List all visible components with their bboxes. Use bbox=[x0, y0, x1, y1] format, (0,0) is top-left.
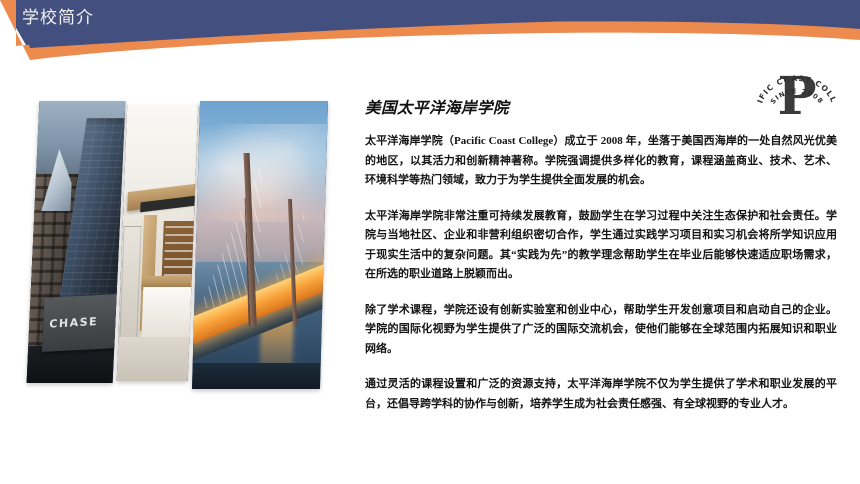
content-heading: 美国太平洋海岸学院 bbox=[365, 96, 837, 118]
page-title: 学校简介 bbox=[22, 6, 94, 30]
header-banner: 学校简介 bbox=[0, 0, 860, 64]
photo-collage: CHASE bbox=[33, 101, 323, 393]
presentation-slide: 学校简介 CHASE bbox=[0, 0, 860, 484]
content-paragraph-4: 通过灵活的课程设置和广泛的资源支持，太平洋海岸学院不仅为学生提供了学术和职业发展… bbox=[365, 375, 837, 414]
chase-sign-label: CHASE bbox=[43, 315, 98, 331]
content-paragraph-3: 除了学术课程，学院还设有创新实验室和创业中心，帮助学生开发创意项目和启动自己的企… bbox=[365, 301, 837, 360]
content-column: 美国太平洋海岸学院 太平洋海岸学院（Pacific Coast College）… bbox=[365, 96, 837, 414]
city-skyscraper-photo: CHASE bbox=[27, 101, 126, 383]
banner-shape bbox=[0, 0, 860, 64]
content-paragraph-1: 太平洋海岸学院（Pacific Coast College）成立于 2008 年… bbox=[365, 132, 837, 191]
bridge-dusk-photo bbox=[192, 101, 328, 389]
chase-sign: CHASE bbox=[42, 294, 117, 351]
content-paragraph-2: 太平洋海岸学院非常注重可持续发展教育，鼓励学生在学习过程中关注生态保护和社会责任… bbox=[365, 207, 837, 285]
lobby-interior-photo bbox=[117, 105, 199, 381]
